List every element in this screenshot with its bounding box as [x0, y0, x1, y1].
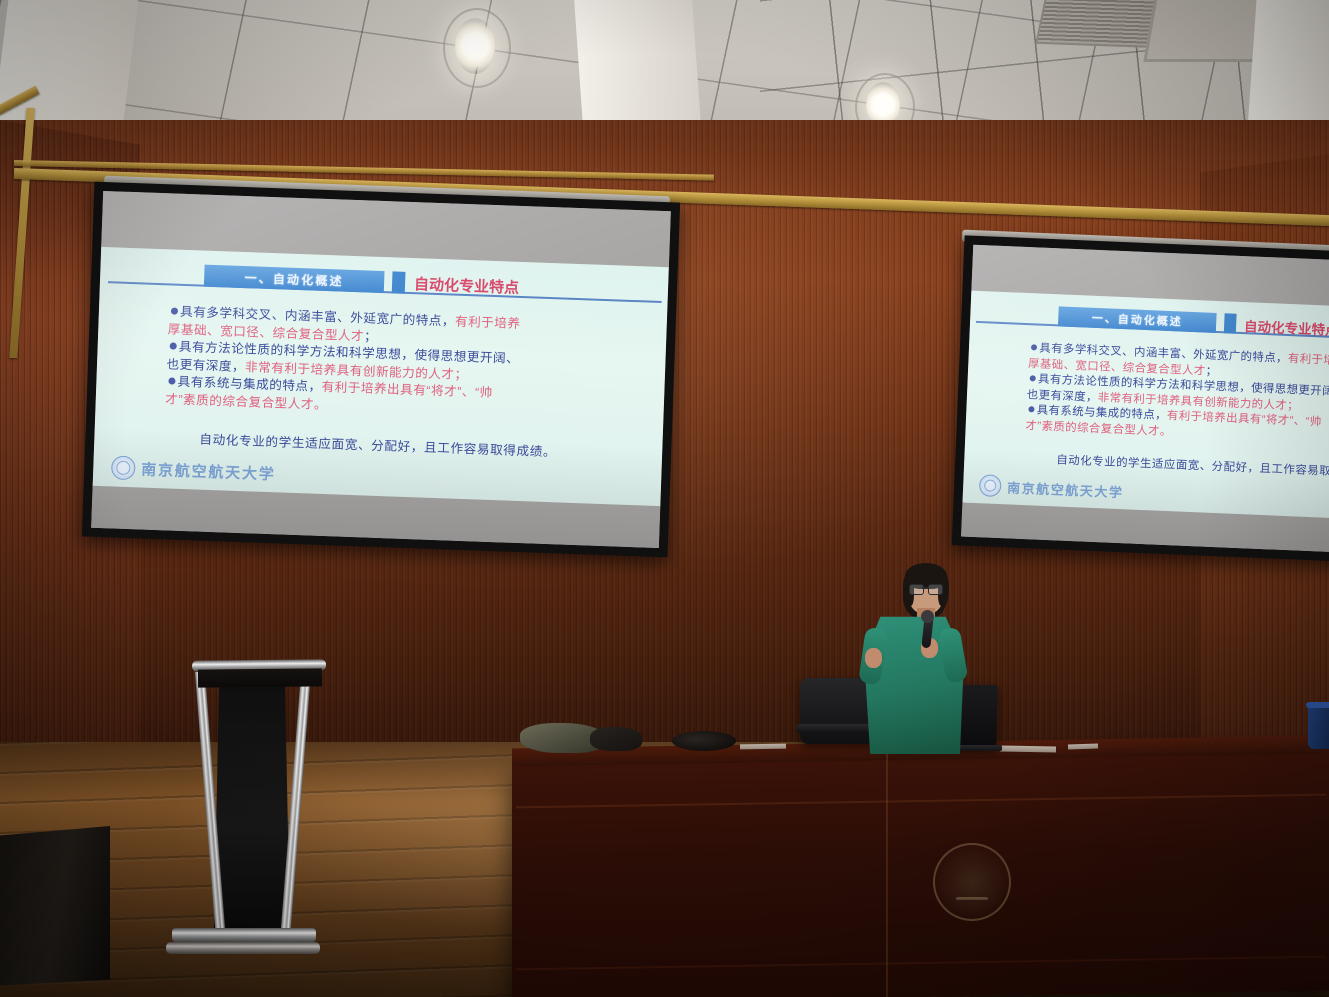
nuaa-desk-emblem	[933, 843, 1011, 921]
downlight-ring-1	[443, 8, 511, 88]
bullet-dot-icon	[1031, 344, 1038, 351]
bullet-dot-icon	[168, 377, 175, 384]
slide-title-right: 自动化专业特点	[1244, 315, 1329, 339]
nuaa-seal-icon-right	[979, 474, 1002, 497]
paper-1	[740, 744, 786, 750]
screen-surface-left: 一、自动化概述 自动化专业特点 具有多学科交叉、内涵丰富、外延宽广的特点，有利于…	[91, 191, 671, 548]
bullet-dot-icon	[170, 342, 177, 349]
lectern-front-panel	[214, 671, 290, 929]
slide-text: 也更有深度，	[166, 357, 245, 374]
slide-logo-text-right: 南京航空航天大学	[1007, 477, 1124, 501]
slide-text: ；	[1205, 365, 1217, 377]
slide-bullets-left: 具有多学科交叉、内涵丰富、外延宽广的特点，有利于培养厚基础、宽口径、综合复合型人…	[167, 303, 660, 425]
slide-bullets-right: 具有多学科交叉、内涵丰富、外延宽广的特点，有利于培养厚基础、宽口径、综合复合型人…	[1027, 341, 1329, 453]
blue-bin	[1308, 705, 1329, 749]
lectern-base-foot	[166, 942, 320, 954]
blue-bin-rim	[1306, 702, 1329, 708]
screen-surface-right: 一、自动化概述 自动化专业特点 具有多学科交叉、内涵丰富、外延宽广的特点，有利于…	[961, 245, 1329, 554]
slide-closing-right: 自动化专业的学生适应面宽、分配好，且工作容易取得成绩。	[1056, 451, 1329, 481]
cable-bundle	[672, 731, 736, 751]
lecture-hall-photo: 一、自动化概述 自动化专业特点 具有多学科交叉、内涵丰富、外延宽广的特点，有利于…	[0, 0, 1329, 997]
bullet-dot-icon	[1028, 406, 1035, 413]
slide-section-chip-left: 一、自动化概述	[204, 265, 385, 293]
lectern-desktop-shadow	[198, 668, 322, 687]
slide-text-highlight: 有利于培养	[1288, 353, 1329, 367]
desk-joint-seam	[886, 752, 888, 997]
nuaa-seal-icon	[111, 455, 136, 480]
lectern-base	[172, 928, 316, 942]
slide-right: 一、自动化概述 自动化专业特点 具有多学科交叉、内涵丰富、外延宽广的特点，有利于…	[962, 291, 1329, 520]
slide-logo-left: 南京航空航天大学	[111, 455, 276, 485]
presenter-glasses-right-lens	[928, 584, 943, 595]
slide-title-left: 自动化专业特点	[414, 273, 520, 298]
slide-logo-text-left: 南京航空航天大学	[141, 458, 276, 484]
bullet-dot-icon	[1030, 375, 1037, 382]
slide-text: 也更有深度，	[1027, 389, 1099, 404]
projection-screen-left: 一、自动化概述 自动化专业特点 具有多学科交叉、内涵丰富、外延宽广的特点，有利于…	[82, 182, 680, 558]
microphone-head	[921, 610, 934, 623]
paper-3	[1068, 743, 1098, 749]
bullet-dot-icon	[171, 307, 178, 314]
slide-left: 一、自动化概述 自动化专业特点 具有多学科交叉、内涵丰富、外延宽广的特点，有利于…	[93, 247, 669, 506]
slide-logo-right: 南京航空航天大学	[979, 474, 1124, 502]
paper-2	[1000, 746, 1056, 753]
slide-text: ；	[364, 329, 378, 343]
presenter-left-hand	[865, 648, 882, 668]
projection-screen-right: 一、自动化概述 自动化专业特点 具有多学科交叉、内涵丰富、外延宽广的特点，有利于…	[952, 235, 1329, 562]
loudspeaker-cabinet	[0, 826, 110, 986]
desk-front-panel	[512, 754, 1329, 997]
slide-title-marker-right	[1224, 313, 1237, 333]
slide-title-marker-left	[392, 271, 406, 293]
presenter-glasses-left-lens	[909, 584, 924, 595]
bag-dark-part	[590, 727, 642, 751]
slide-text-highlight: 有利于培养	[455, 315, 521, 331]
slide-closing-left: 自动化专业的学生适应面宽、分配好，且工作容易取得成绩。	[199, 429, 556, 461]
slide-section-chip-right: 一、自动化概述	[1058, 306, 1217, 333]
presenter-glasses-bridge	[922, 587, 928, 589]
slide-header-rule-left	[108, 281, 662, 302]
slide-text: 具有系统与集成的特点，	[177, 375, 321, 394]
